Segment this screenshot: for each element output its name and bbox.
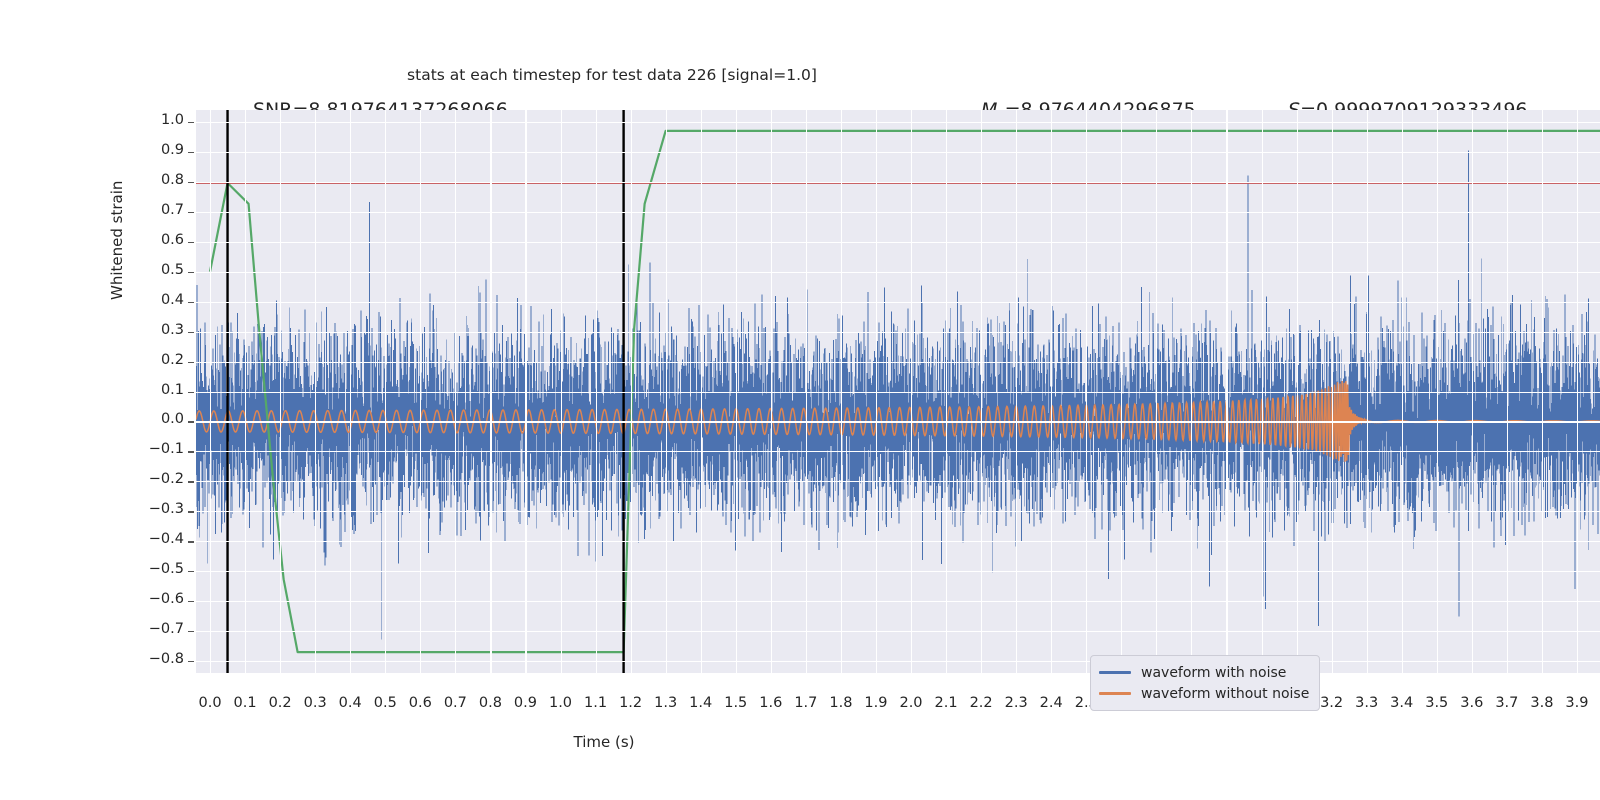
- y-tick-label-left: 0.6: [124, 232, 184, 248]
- x-tick-label: 1.7: [786, 695, 826, 711]
- y-tick-label-left: 0.9: [124, 142, 184, 158]
- legend: waveform with noisewaveform without nois…: [1090, 655, 1320, 711]
- y-tick-label-left: −0.4: [124, 531, 184, 547]
- y-tick-label-left: 0.1: [124, 382, 184, 398]
- y-tick-label-left: 0.4: [124, 292, 184, 308]
- y-tick-mark-left: [188, 332, 194, 333]
- y-tick-label-left: −0.6: [124, 591, 184, 607]
- y-gridline: [196, 212, 1600, 213]
- x-tick-label: 3.5: [1417, 695, 1457, 711]
- y-gridline: [196, 601, 1600, 602]
- y-tick-mark-left: [188, 511, 194, 512]
- y-gridline: [196, 122, 1600, 123]
- y-tick-label-left: 0.8: [124, 172, 184, 188]
- y-gridline: [196, 182, 1600, 183]
- chart-title: stats at each timestep for test data 226…: [0, 66, 1412, 84]
- y-tick-mark-left: [188, 421, 194, 422]
- y-gridline: [196, 392, 1600, 393]
- legend-color-swatch: [1099, 671, 1131, 674]
- y-tick-label-left: 0.5: [124, 262, 184, 278]
- x-tick-label: 3.8: [1522, 695, 1562, 711]
- x-tick-label: 1.8: [821, 695, 861, 711]
- x-tick-label: 1.5: [716, 695, 756, 711]
- x-tick-label: 3.6: [1452, 695, 1492, 711]
- y-tick-label-left: −0.1: [124, 441, 184, 457]
- legend-item[interactable]: waveform with noise: [1099, 662, 1309, 683]
- y-tick-mark-left: [188, 392, 194, 393]
- x-tick-label: 0.1: [225, 695, 265, 711]
- x-tick-label: 0.6: [400, 695, 440, 711]
- x-tick-label: 1.9: [856, 695, 896, 711]
- y-tick-mark-left: [188, 362, 194, 363]
- x-tick-label: 1.0: [541, 695, 581, 711]
- y-gridline: [196, 152, 1600, 153]
- x-tick-label: 2.2: [961, 695, 1001, 711]
- y-tick-mark-left: [188, 212, 194, 213]
- x-tick-label: 2.0: [891, 695, 931, 711]
- y-tick-mark-left: [188, 122, 194, 123]
- y-gridline: [196, 272, 1600, 273]
- y-tick-label-left: −0.7: [124, 621, 184, 637]
- x-tick-label: 3.7: [1487, 695, 1527, 711]
- y-tick-label-left: −0.5: [124, 561, 184, 577]
- y-tick-label-left: 0.0: [124, 411, 184, 427]
- y-gridline: [196, 541, 1600, 542]
- x-tick-label: 1.1: [576, 695, 616, 711]
- x-tick-label: 0.3: [295, 695, 335, 711]
- y-tick-label-left: −0.8: [124, 651, 184, 667]
- x-axis-label: Time (s): [0, 733, 1404, 751]
- y-gridline: [196, 302, 1600, 303]
- y-tick-mark-left: [188, 242, 194, 243]
- x-tick-label: 0.9: [505, 695, 545, 711]
- y-gridline: [196, 242, 1600, 243]
- x-tick-label: 2.3: [996, 695, 1036, 711]
- y-tick-mark-left: [188, 541, 194, 542]
- legend-label: waveform without noise: [1141, 686, 1309, 702]
- y-tick-mark-left: [188, 631, 194, 632]
- y-tick-label-left: −0.3: [124, 501, 184, 517]
- x-tick-label: 0.0: [190, 695, 230, 711]
- x-tick-label: 0.7: [435, 695, 475, 711]
- legend-color-swatch: [1099, 692, 1131, 695]
- plot-area: [196, 110, 1600, 673]
- x-tick-label: 1.6: [751, 695, 791, 711]
- x-tick-label: 0.2: [260, 695, 300, 711]
- y-tick-mark-left: [188, 601, 194, 602]
- figure: stats at each timestep for test data 226…: [0, 0, 1600, 800]
- x-tick-label: 1.4: [681, 695, 721, 711]
- y-gridline: [196, 511, 1600, 512]
- y-gridline: [196, 421, 1600, 422]
- x-tick-label: 0.8: [470, 695, 510, 711]
- waveform-with-noise-trace: [196, 151, 1600, 640]
- x-tick-label: 3.9: [1557, 695, 1597, 711]
- y-tick-mark-left: [188, 661, 194, 662]
- x-tick-label: 3.3: [1347, 695, 1387, 711]
- legend-item[interactable]: waveform without noise: [1099, 683, 1309, 704]
- y-tick-mark-left: [188, 571, 194, 572]
- y-tick-mark-left: [188, 451, 194, 452]
- x-tick-label: 2.1: [926, 695, 966, 711]
- y-gridline: [196, 661, 1600, 662]
- y-gridline: [196, 481, 1600, 482]
- y-tick-mark-left: [188, 272, 194, 273]
- y-tick-label-left: 0.2: [124, 352, 184, 368]
- y-tick-mark-left: [188, 481, 194, 482]
- y-gridline: [196, 332, 1600, 333]
- x-tick-label: 1.3: [646, 695, 686, 711]
- y-tick-mark-left: [188, 152, 194, 153]
- y-tick-label-left: 1.0: [124, 112, 184, 128]
- x-tick-label: 2.4: [1031, 695, 1071, 711]
- y-tick-mark-left: [188, 182, 194, 183]
- y-gridline: [196, 451, 1600, 452]
- x-tick-label: 0.5: [365, 695, 405, 711]
- y-gridline: [196, 571, 1600, 572]
- y-tick-label-left: 0.7: [124, 202, 184, 218]
- y-tick-mark-left: [188, 302, 194, 303]
- y-gridline: [196, 631, 1600, 632]
- legend-label: waveform with noise: [1141, 665, 1286, 681]
- y-tick-label-left: −0.2: [124, 471, 184, 487]
- x-tick-label: 1.2: [611, 695, 651, 711]
- y-tick-label-left: 0.3: [124, 322, 184, 338]
- y-gridline: [196, 362, 1600, 363]
- x-tick-label: 3.4: [1382, 695, 1422, 711]
- x-tick-label: 0.4: [330, 695, 370, 711]
